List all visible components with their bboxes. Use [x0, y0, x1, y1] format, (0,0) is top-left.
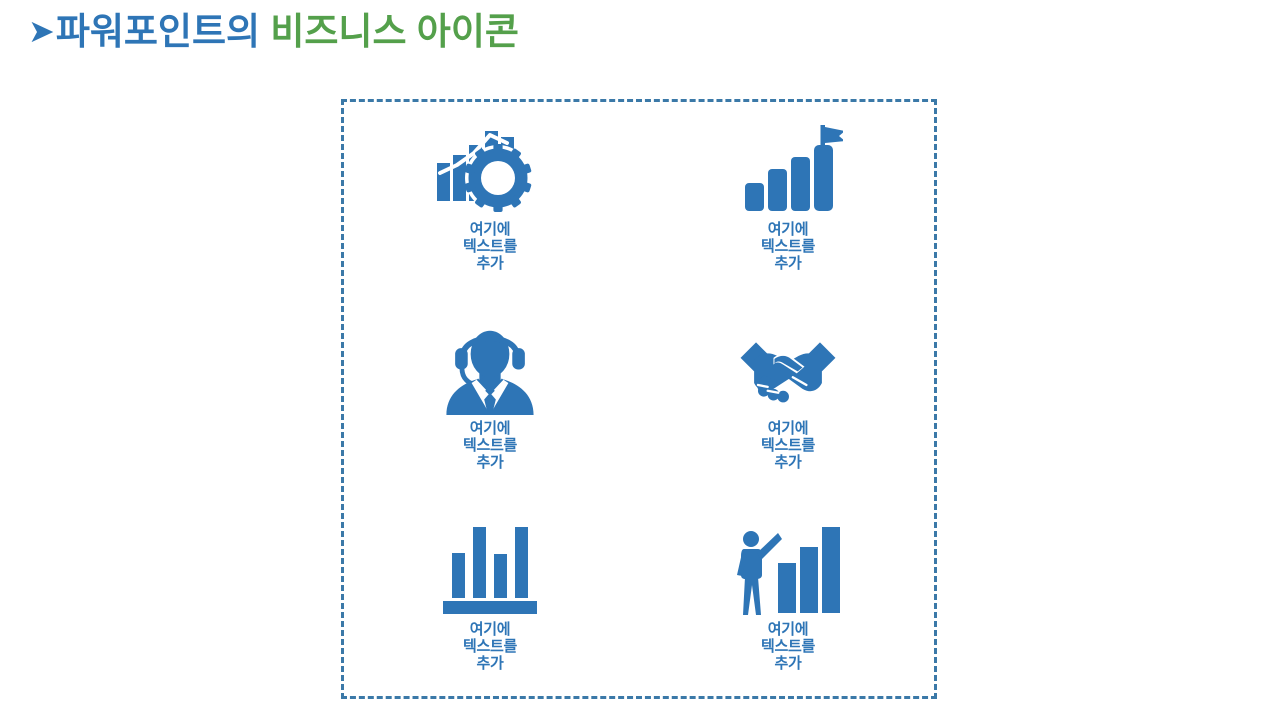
title-segment-blue: 파워포인트의 [56, 11, 260, 52]
page-title: ➤파워포인트의 비즈니스 아이콘 [28, 12, 519, 53]
icon-caption: 여기에 텍스트를 추가 [761, 421, 815, 471]
bullet-arrow-icon: ➤ [28, 13, 55, 49]
icon-caption: 여기에 텍스트를 추가 [463, 222, 517, 272]
icon-caption: 여기에 텍스트를 추가 [761, 622, 815, 672]
icon-cell-gear-chart[interactable]: 여기에 텍스트를 추가 [341, 99, 639, 299]
headset-support-agent-icon [435, 323, 545, 415]
bar-chart-baseline-icon [435, 523, 545, 618]
person-pointing-bar-chart-icon [733, 523, 843, 618]
title-segment-green: 비즈니스 아이콘 [270, 11, 519, 52]
icon-cell-handshake[interactable]: 여기에 텍스트를 추가 [639, 299, 937, 499]
icon-cell-person-chart[interactable]: 여기에 텍스트를 추가 [639, 499, 937, 699]
icon-cell-support-agent[interactable]: 여기에 텍스트를 추가 [341, 299, 639, 499]
icon-caption: 여기에 텍스트를 추가 [761, 222, 815, 272]
gear-bar-chart-icon [435, 123, 545, 218]
bar-chart-flag-icon [733, 123, 843, 218]
icon-grid: 여기에 텍스트를 추가 여기에 텍스트를 추가 [341, 99, 937, 699]
icon-cell-bar-chart[interactable]: 여기에 텍스트를 추가 [341, 499, 639, 699]
icon-caption: 여기에 텍스트를 추가 [463, 622, 517, 672]
icon-caption: 여기에 텍스트를 추가 [463, 421, 517, 471]
handshake-icon [733, 323, 843, 415]
icon-cell-flag-growth[interactable]: 여기에 텍스트를 추가 [639, 99, 937, 299]
